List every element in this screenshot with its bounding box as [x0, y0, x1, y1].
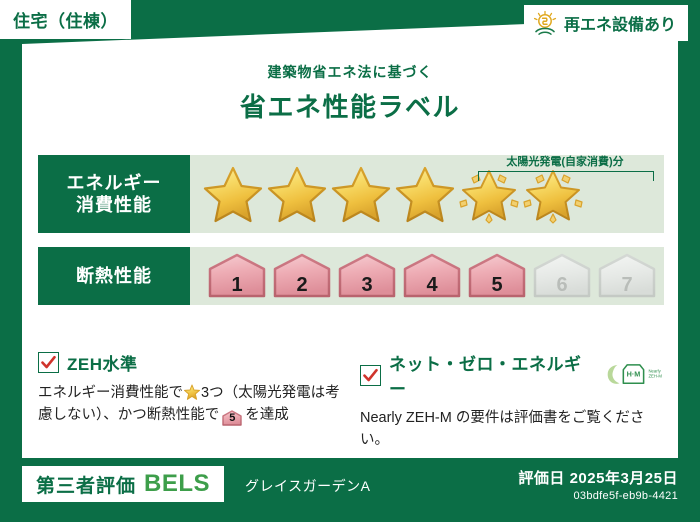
zeh-standard-checkmark-icon — [38, 352, 59, 373]
star-3 — [328, 162, 392, 226]
evaluation-id: 03bdfe5f-eb9b-4421 — [574, 490, 679, 502]
zeh-desc-post: を達成 — [245, 407, 289, 423]
solar-sun-icon — [532, 10, 558, 36]
renewable-badge-label: 再エネ設備あり — [564, 11, 676, 35]
criteria-net-zero-energy: ネット・ゼロ・エネルギー H·M Nearly ZEH-M Nearly ZEH… — [360, 350, 664, 452]
insulation-level-4-number: 4 — [426, 275, 437, 295]
inline-star-icon — [184, 384, 200, 400]
net-zero-checkmark-icon — [360, 365, 381, 386]
insulation-level-4: 4 — [401, 253, 463, 299]
insulation-level-3: 3 — [336, 253, 398, 299]
net-zero-description: Nearly ZEH-M の要件は評価書をご覧ください。 — [360, 407, 664, 452]
bels-en-label: BELS — [144, 470, 210, 498]
insulation-level-5: 5 — [466, 253, 528, 299]
bels-badge: 第三者評価 BELS — [22, 466, 224, 502]
star-4 — [392, 162, 456, 226]
energy-performance-label: 住宅（住棟） 再エネ設備あり 建築物省エネ法に基づく 省エネ性能ラベル — [0, 0, 700, 522]
svg-text:ZEH-M: ZEH-M — [649, 373, 663, 378]
insulation-level-1-number: 1 — [231, 275, 242, 295]
insulation-performance-label-cell: 断熱性能 — [38, 247, 190, 305]
category-badge: 住宅（住棟） — [0, 0, 131, 39]
zeh-m-house-logo-icon: H·M Nearly ZEH-M — [604, 361, 664, 389]
net-zero-header: ネット・ゼロ・エネルギー H·M Nearly ZEH-M — [360, 350, 664, 400]
insulation-level-2: 2 — [271, 253, 333, 299]
insulation-level-6-number: 6 — [556, 275, 567, 295]
energy-stars-cell: 太陽光発電(自家消費)分 — [190, 155, 664, 233]
insulation-level-7: 7 — [596, 253, 658, 299]
insulation-level-3-number: 3 — [361, 275, 372, 295]
insulation-level-2-number: 2 — [296, 275, 307, 295]
criteria-section: ZEH水準 エネルギー消費性能で 3つ（太陽光発電は考慮しない）、かつ断熱性能で… — [38, 350, 664, 452]
zeh-standard-title: ZEH水準 — [67, 350, 138, 375]
renewable-energy-badge: 再エネ設備あり — [524, 5, 688, 41]
insulation-levels-cell: 1 2 3 4 5 — [190, 247, 664, 305]
inline-insulation-badge-value: 5 — [221, 410, 243, 427]
criteria-zeh-standard: ZEH水準 エネルギー消費性能で 3つ（太陽光発電は考慮しない）、かつ断熱性能で… — [38, 350, 342, 452]
bels-jp-label: 第三者評価 — [36, 471, 136, 498]
category-badge-label: 住宅（住棟） — [13, 7, 118, 32]
label-title: 省エネ性能ラベル — [0, 87, 700, 124]
svg-text:H·M: H·M — [627, 369, 641, 378]
insulation-performance-row: 断熱性能 1 2 3 4 — [38, 247, 664, 305]
building-name: グレイスガーデンA — [245, 476, 370, 496]
title-block: 建築物省エネ法に基づく 省エネ性能ラベル — [0, 62, 700, 124]
label-subtitle: 建築物省エネ法に基づく — [0, 62, 700, 82]
energy-label-line1: エネルギー — [67, 172, 162, 195]
solar-bracket — [478, 171, 654, 181]
insulation-level-5-number: 5 — [491, 275, 502, 295]
zeh-standard-header: ZEH水準 — [38, 350, 342, 375]
energy-performance-row: エネルギー 消費性能 — [38, 155, 664, 233]
insulation-level-7-number: 7 — [621, 275, 632, 295]
metrics-section: エネルギー 消費性能 — [38, 155, 664, 305]
insulation-level-1: 1 — [206, 253, 268, 299]
zeh-desc-pre: エネルギー消費性能で — [38, 385, 183, 401]
energy-label-line2: 消費性能 — [76, 194, 152, 217]
inline-insulation-badge: 5 — [221, 410, 243, 426]
star-2 — [264, 162, 328, 226]
zeh-standard-description: エネルギー消費性能で 3つ（太陽光発電は考慮しない）、かつ断熱性能で 5を達成 — [38, 382, 342, 427]
insulation-level-6: 6 — [531, 253, 593, 299]
energy-performance-label-cell: エネルギー 消費性能 — [38, 155, 190, 233]
insulation-label: 断熱性能 — [76, 265, 152, 288]
star-1 — [200, 162, 264, 226]
net-zero-title: ネット・ゼロ・エネルギー — [389, 350, 592, 400]
label-footer: 第三者評価 BELS グレイスガーデンA 評価日 2025年3月25日 03bd… — [0, 458, 700, 522]
evaluation-date: 評価日 2025年3月25日 — [518, 467, 678, 488]
